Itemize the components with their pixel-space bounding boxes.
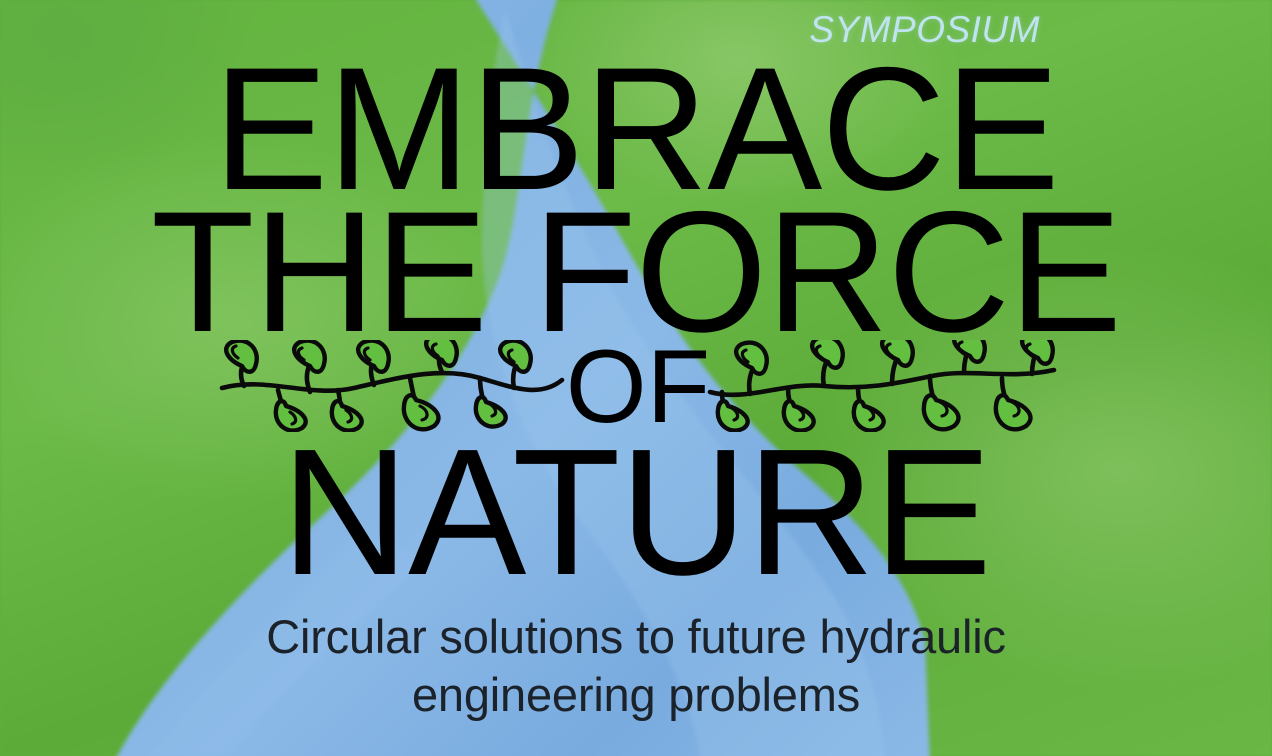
subtitle: Circular solutions to future hydraulic e…	[120, 608, 1152, 725]
subtitle-line-2: engineering problems	[120, 666, 1152, 724]
subtitle-line-1: Circular solutions to future hydraulic	[120, 608, 1152, 666]
title-line-nature: NATURE	[10, 423, 1263, 603]
poster-canvas: SYMPOSIUM EMBRACE THE FORCE	[0, 0, 1272, 756]
poster-content: SYMPOSIUM EMBRACE THE FORCE	[0, 0, 1272, 756]
